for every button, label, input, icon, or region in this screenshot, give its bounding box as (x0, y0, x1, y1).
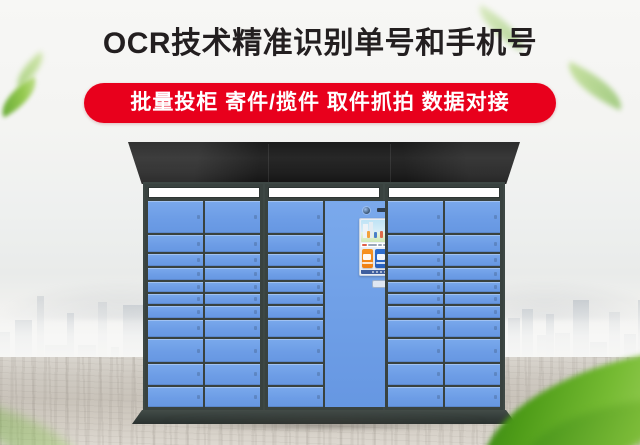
locker-door[interactable] (388, 235, 443, 252)
locker-door[interactable] (388, 306, 443, 318)
locker-section-center (265, 184, 383, 410)
locker-door[interactable] (148, 282, 203, 292)
locker-door[interactable] (268, 282, 323, 292)
locker-door[interactable] (148, 294, 203, 304)
locker-door[interactable] (388, 387, 443, 407)
locker-door[interactable] (445, 339, 500, 362)
ticker-text (368, 244, 377, 246)
locker-door[interactable] (148, 268, 203, 280)
locker-door[interactable] (205, 320, 260, 337)
locker-body (143, 182, 505, 412)
locker-door[interactable] (148, 339, 203, 362)
locker-door[interactable] (445, 254, 500, 266)
status-dot (372, 271, 374, 273)
locker-door[interactable] (445, 268, 500, 280)
button-label (362, 262, 373, 264)
locker-header-panel (268, 187, 380, 198)
locker-door[interactable] (148, 364, 203, 384)
parcel-icon (377, 254, 385, 260)
locker-door[interactable] (445, 282, 500, 292)
locker-door[interactable] (445, 294, 500, 304)
locker-door[interactable] (205, 268, 260, 280)
feature-ribbon: 批量投柜 寄件/揽件 取件抓拍 数据对接 (84, 83, 556, 123)
locker-door[interactable] (445, 320, 500, 337)
locker-door-grid (268, 201, 380, 407)
locker-door[interactable] (388, 254, 443, 266)
locker-door[interactable] (205, 254, 260, 266)
parcel-icon (363, 254, 371, 260)
locker-door[interactable] (205, 282, 260, 292)
locker-door[interactable] (268, 364, 323, 384)
locker-door[interactable] (205, 235, 260, 252)
locker-door[interactable] (205, 201, 260, 233)
locker-door[interactable] (205, 387, 260, 407)
banner-figure (367, 231, 370, 238)
locker-door[interactable] (268, 268, 323, 280)
locker-column (268, 201, 323, 407)
locker-door[interactable] (148, 306, 203, 318)
smart-parcel-locker (128, 142, 520, 420)
locker-door[interactable] (268, 235, 323, 252)
locker-column (325, 201, 380, 407)
locker-door[interactable] (388, 339, 443, 362)
banner-figure (380, 231, 383, 238)
locker-door[interactable] (268, 294, 323, 304)
locker-door[interactable] (445, 235, 500, 252)
locker-ground-shadow (100, 412, 550, 430)
canopy-seam (390, 144, 391, 182)
status-dot (380, 271, 382, 273)
locker-door[interactable] (268, 387, 323, 407)
locker-door[interactable] (148, 320, 203, 337)
locker-door[interactable] (268, 201, 323, 233)
locker-door[interactable] (148, 254, 203, 266)
locker-door[interactable] (445, 306, 500, 318)
locker-door[interactable] (148, 201, 203, 233)
status-dot (376, 271, 378, 273)
locker-door[interactable] (268, 254, 323, 266)
locker-door-grid (388, 201, 500, 407)
locker-door[interactable] (445, 387, 500, 407)
locker-door[interactable] (205, 306, 260, 318)
locker-column (445, 201, 500, 407)
locker-column (148, 201, 203, 407)
locker-door-grid (148, 201, 260, 407)
poster-canvas: OCR技术精准识别单号和手机号 批量投柜 寄件/揽件 取件抓拍 数据对接 (0, 0, 640, 445)
locker-door[interactable] (268, 339, 323, 362)
locker-column (205, 201, 260, 407)
locker-header-panel (388, 187, 500, 198)
locker-canopy-sheen (128, 142, 520, 184)
feature-ribbon-label: 批量投柜 寄件/揽件 取件抓拍 数据对接 (130, 83, 509, 123)
locker-section-right (385, 184, 503, 410)
locker-door[interactable] (268, 320, 323, 337)
locker-header-panel (148, 187, 260, 198)
camera-lens-icon (363, 207, 370, 214)
ticker-text (362, 244, 368, 246)
locker-door[interactable] (445, 201, 500, 233)
locker-door[interactable] (148, 235, 203, 252)
locker-door[interactable] (388, 268, 443, 280)
ticker-text (378, 244, 383, 246)
page-title: OCR技术精准识别单号和手机号 (0, 24, 640, 64)
locker-door[interactable] (268, 306, 323, 318)
locker-door[interactable] (205, 364, 260, 384)
locker-door[interactable] (148, 387, 203, 407)
banner-figure (374, 232, 377, 238)
canopy-seam (268, 144, 269, 182)
locker-door[interactable] (388, 320, 443, 337)
locker-door[interactable] (445, 364, 500, 384)
locker-column (388, 201, 443, 407)
locker-door[interactable] (205, 339, 260, 362)
locker-door[interactable] (205, 294, 260, 304)
locker-door[interactable] (388, 364, 443, 384)
locker-door[interactable] (388, 201, 443, 233)
locker-door[interactable] (388, 282, 443, 292)
locker-door[interactable] (388, 294, 443, 304)
locker-section-left (145, 184, 263, 410)
deposit-button[interactable] (362, 249, 374, 268)
